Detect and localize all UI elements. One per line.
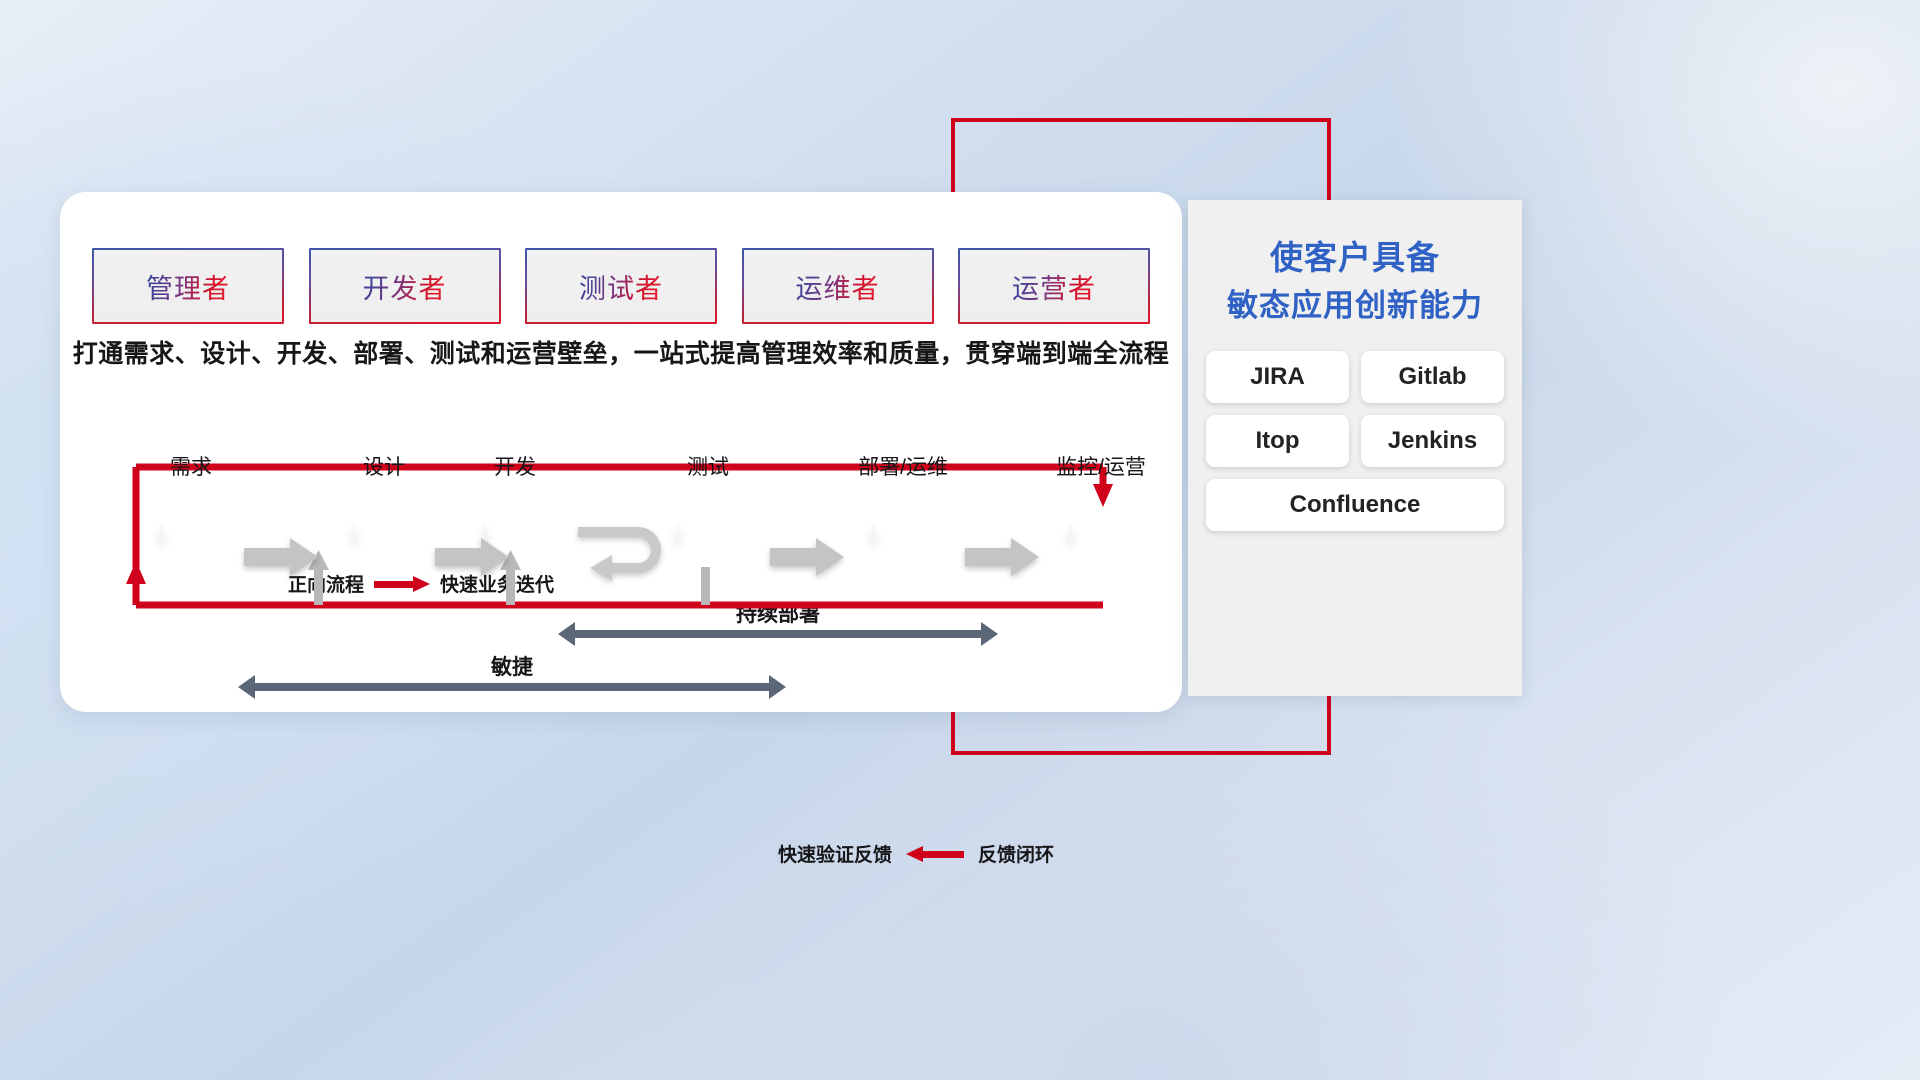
flow-arrow-icon [435,537,509,577]
role-box-tester[interactable]: 测试者 [525,248,717,324]
slide-canvas: 管理者 开发者 测试者 运维者 运营者 打通需求、设计、开发、部署、测试和运营壁… [0,0,1920,1080]
arrow-left-red-icon [906,846,964,862]
flow-arrow-icon [965,537,1039,577]
legend-forward-flow: 正向流程 快速业务迭代 [288,570,554,597]
stage-dot [1070,524,1072,543]
span-arrow-agile [238,675,786,699]
tool-chip-gitlab[interactable]: Gitlab [1361,351,1504,403]
role-boxes-row: 管理者 开发者 测试者 运维者 运营者 [92,248,1150,324]
description-text: 打通需求、设计、开发、部署、测试和运营壁垒，一站式提高管理效率和质量，贯穿端到端… [60,334,1182,370]
legend-feedback-right-label: 反馈闭环 [978,840,1054,867]
stage-testing[interactable]: 测试 [677,525,739,543]
stage-dot [872,524,874,543]
role-box-operator[interactable]: 运营者 [958,248,1150,324]
stage-label: 监控/运营 [1056,451,1146,481]
role-label: 管理者 [146,267,230,306]
stage-monitor-operate[interactable]: 监控/运营 [1070,525,1132,543]
role-box-operations-engineer[interactable]: 运维者 [742,248,934,324]
right-panel-title: 使客户具备 敏态应用创新能力 [1188,234,1522,329]
tool-chip-jira[interactable]: JIRA [1206,351,1349,403]
stage-dot [160,524,162,543]
role-box-developer[interactable]: 开发者 [309,248,501,324]
iteration-loop-arrow-icon [576,522,668,584]
stage-design[interactable]: 设计 [353,525,415,543]
stage-label: 测试 [687,451,729,481]
tool-chip-itop[interactable]: Itop [1206,415,1349,467]
tool-chip-confluence[interactable]: Confluence [1206,479,1504,531]
stage-requirements[interactable]: 需求 [160,525,222,543]
legend-feedback-left-label: 快速验证反馈 [778,840,892,867]
right-panel-title-line2: 敏态应用创新能力 [1188,283,1522,329]
stage-deploy-ops[interactable]: 部署/运维 [872,525,934,543]
main-card: 管理者 开发者 测试者 运维者 运营者 打通需求、设计、开发、部署、测试和运营壁… [60,192,1182,712]
stage-dot [677,524,679,543]
stage-dot [353,524,355,543]
stage-label: 需求 [170,451,212,481]
role-label: 开发者 [363,267,447,306]
stage-label: 开发 [494,451,536,481]
role-label: 测试者 [579,267,663,306]
stage-label: 设计 [363,451,405,481]
span-arrow-continuous-deployment [558,622,998,646]
arrow-right-red-icon [374,576,430,592]
stage-label: 部署/运维 [858,451,948,481]
tool-chip-jenkins[interactable]: Jenkins [1361,415,1504,467]
flow-arrow-icon [244,537,318,577]
role-box-manager[interactable]: 管理者 [92,248,284,324]
right-panel-title-line1: 使客户具备 [1270,239,1440,276]
tool-chip-list: JIRA Gitlab Itop Jenkins Confluence [1206,351,1504,531]
legend-feedback-loop: 快速验证反馈 反馈闭环 [778,840,1054,867]
role-label: 运营者 [1012,267,1096,306]
right-panel: 使客户具备 敏态应用创新能力 JIRA Gitlab Itop Jenkins … [1188,200,1522,696]
flow-arrow-icon [770,537,844,577]
role-label: 运维者 [796,267,880,306]
